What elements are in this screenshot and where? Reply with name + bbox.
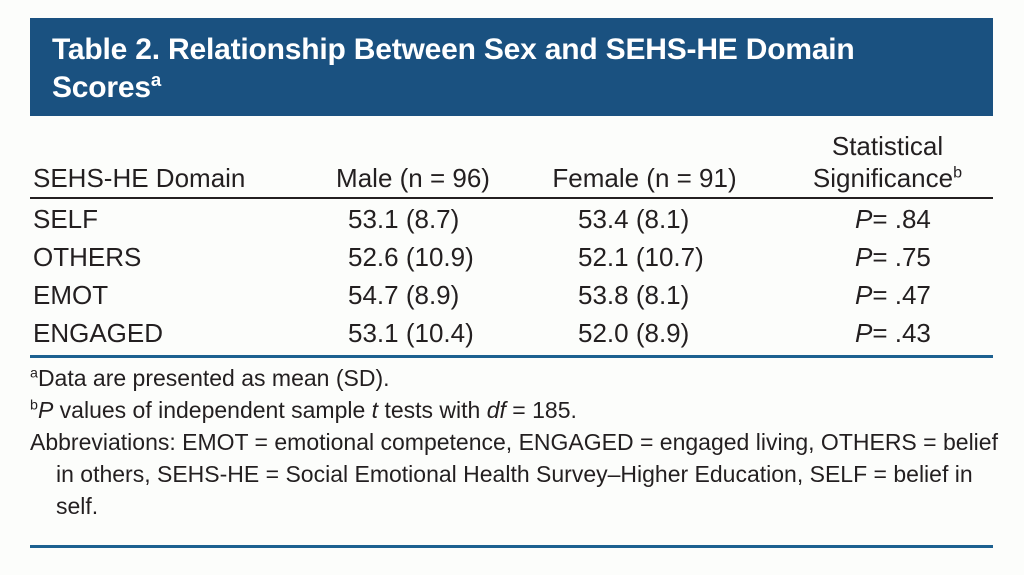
- footnote-a: aData are presented as mean (SD).: [30, 362, 1005, 394]
- p-symbol: P: [855, 280, 872, 310]
- cell-male: 52.6 (10.9): [348, 238, 474, 276]
- footnote-a-marker: a: [30, 365, 38, 381]
- cell-male: 53.1 (8.7): [348, 200, 459, 238]
- cell-female: 53.8 (8.1): [578, 276, 689, 314]
- cell-female: 53.4 (8.1): [578, 200, 689, 238]
- cell-domain: ENGAGED: [33, 314, 163, 352]
- table-row: ENGAGED 53.1 (10.4) 52.0 (8.9) P= .43: [30, 314, 993, 352]
- cell-male: 53.1 (10.4): [348, 314, 474, 352]
- footnote-b-df-symbol: df: [487, 397, 506, 423]
- cell-male: 54.7 (8.9): [348, 276, 459, 314]
- cell-significance: P= .43: [855, 314, 931, 352]
- column-header-female: Female (n = 91): [527, 162, 762, 194]
- body-underline-rule: [30, 355, 993, 358]
- table-figure: Table 2. Relationship Between Sex and SE…: [0, 0, 1024, 575]
- column-header-male: Male (n = 96): [298, 162, 528, 194]
- p-value: = .75: [872, 242, 931, 272]
- table-body: SELF 53.1 (8.7) 53.4 (8.1) P= .84 OTHERS…: [30, 200, 993, 352]
- table-title-text: Table 2. Relationship Between Sex and SE…: [52, 33, 855, 104]
- footnote-b: bP values of independent sample t tests …: [30, 394, 1005, 426]
- table-title: Table 2. Relationship Between Sex and SE…: [52, 31, 971, 107]
- cell-significance: P= .47: [855, 276, 931, 314]
- header-underline-rule: [30, 197, 993, 199]
- footnote-abbreviations: Abbreviations: EMOT = emotional competen…: [30, 426, 1005, 522]
- table-title-footnote-marker: a: [151, 69, 161, 90]
- column-header-domain: SEHS-HE Domain: [33, 162, 245, 194]
- column-header-row: SEHS-HE Domain Male (n = 96) Female (n =…: [30, 124, 993, 194]
- cell-domain: EMOT: [33, 276, 108, 314]
- footnotes: aData are presented as mean (SD). bP val…: [30, 362, 1005, 522]
- cell-significance: P= .75: [855, 238, 931, 276]
- footnote-b-marker: b: [30, 397, 38, 413]
- footnote-a-text: Data are presented as mean (SD).: [38, 365, 390, 391]
- footnote-b-p-symbol: P: [38, 397, 53, 423]
- p-symbol: P: [855, 318, 872, 348]
- cell-domain: OTHERS: [33, 238, 141, 276]
- table-row: SELF 53.1 (8.7) 53.4 (8.1) P= .84: [30, 200, 993, 238]
- cell-female: 52.0 (8.9): [578, 314, 689, 352]
- p-symbol: P: [855, 204, 872, 234]
- column-header-significance: StatisticalSignificanceb: [782, 130, 993, 194]
- table-title-bar: Table 2. Relationship Between Sex and SE…: [30, 18, 993, 116]
- footnote-b-text-1: values of independent sample: [53, 397, 371, 423]
- cell-female: 52.1 (10.7): [578, 238, 704, 276]
- bottom-rule: [30, 545, 993, 548]
- cell-significance: P= .84: [855, 200, 931, 238]
- p-value: = .84: [872, 204, 931, 234]
- column-header-significance-footnote-marker: b: [953, 163, 962, 181]
- table-row: OTHERS 52.6 (10.9) 52.1 (10.7) P= .75: [30, 238, 993, 276]
- footnote-b-text-2: tests with: [378, 397, 487, 423]
- column-header-significance-line2: Significance: [813, 163, 953, 193]
- cell-domain: SELF: [33, 200, 98, 238]
- column-header-significance-line1: Statistical: [832, 131, 943, 161]
- p-value: = .47: [872, 280, 931, 310]
- p-symbol: P: [855, 242, 872, 272]
- table-row: EMOT 54.7 (8.9) 53.8 (8.1) P= .47: [30, 276, 993, 314]
- p-value: = .43: [872, 318, 931, 348]
- footnote-b-text-3: = 185.: [506, 397, 577, 423]
